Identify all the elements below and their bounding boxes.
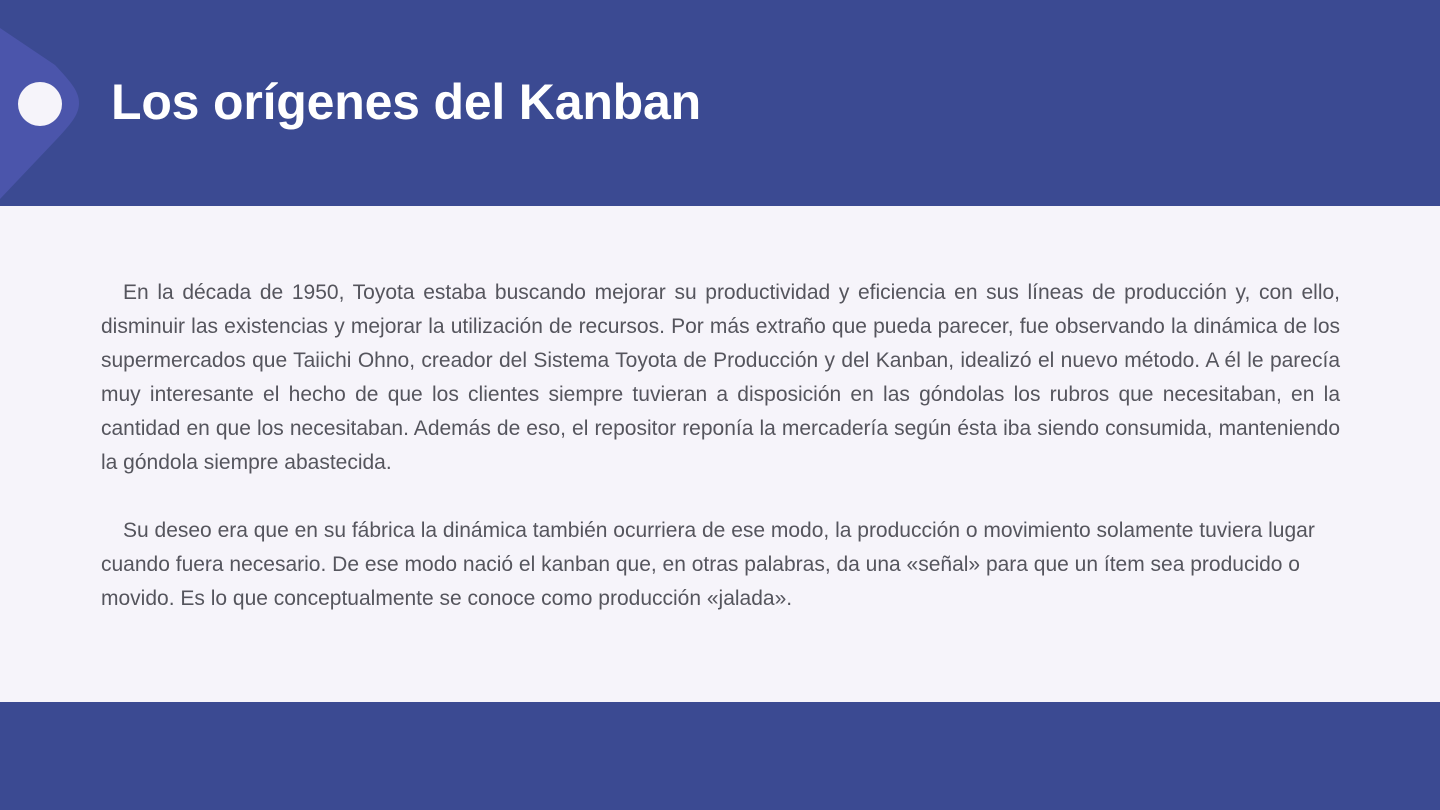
slide: Los orígenes del Kanban En la década de … [0,0,1440,810]
page-title: Los orígenes del Kanban [111,66,701,138]
body-content: En la década de 1950, Toyota estaba busc… [101,276,1340,616]
header-band: Los orígenes del Kanban [0,0,1440,206]
body-paragraph-2: Su deseo era que en su fábrica la dinámi… [101,514,1340,616]
body-paragraph-1: En la década de 1950, Toyota estaba busc… [101,276,1340,480]
footer-band [0,702,1440,810]
circle-badge-icon [18,82,62,126]
